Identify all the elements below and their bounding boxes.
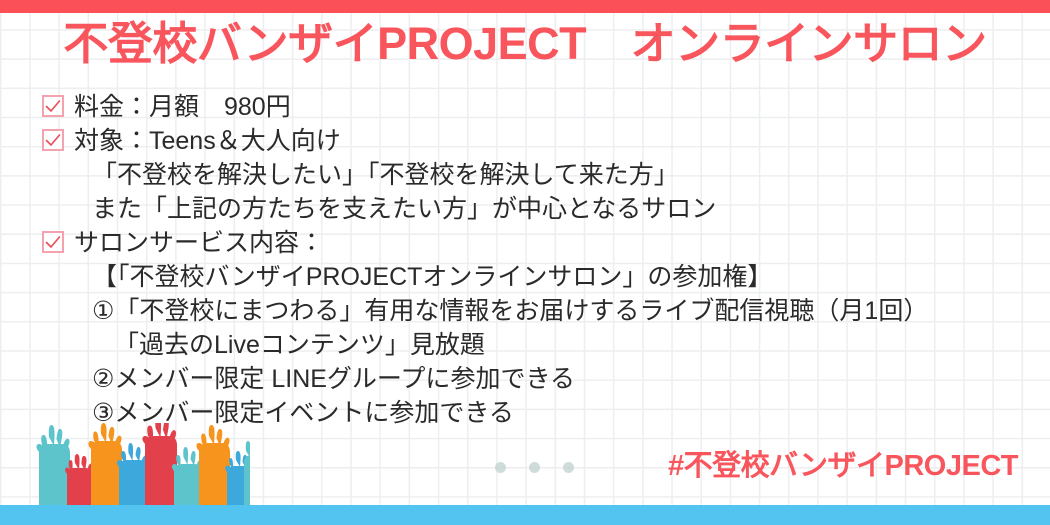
list-item: 料金：月額 980円	[42, 90, 1022, 124]
dot-icon	[529, 462, 540, 473]
list-item: サロンサービス内容：	[42, 226, 1022, 260]
checkbox-icon[interactable]	[42, 95, 64, 117]
decorative-dots	[495, 462, 574, 473]
list-subitem-label: ①「不登校にまつわる」有用な情報をお届けするライブ配信視聴（月1回）	[74, 294, 928, 328]
list-subitem: ①「不登校にまつわる」有用な情報をお届けするライブ配信視聴（月1回）	[42, 294, 1022, 328]
list-item-label: 料金：月額 980円	[74, 90, 291, 124]
dot-icon	[495, 462, 506, 473]
checkbox-icon[interactable]	[42, 231, 64, 253]
list-subitem-label: 「不登校を解決したい」「不登校を解決して来た方」	[74, 158, 679, 192]
bottom-accent-bar	[0, 505, 1050, 525]
list-subitem: 「不登校を解決したい」「不登校を解決して来た方」	[42, 158, 1022, 192]
feature-list: 料金：月額 980円 対象：Teens＆大人向け 「不登校を解決したい」「不登校…	[42, 90, 1022, 430]
dot-icon	[563, 462, 574, 473]
list-subitem-label: 「過去のLiveコンテンツ」見放題	[74, 328, 485, 362]
list-subitem-label: 【「不登校バンザイPROJECTオンラインサロン」の参加権】	[74, 260, 772, 294]
hashtag-label: #不登校バンザイPROJECT	[668, 442, 1018, 484]
list-item-label: 対象：Teens＆大人向け	[74, 124, 341, 158]
list-subitem: ②メンバー限定 LINEグループに参加できる	[42, 362, 1022, 396]
checkbox-icon[interactable]	[42, 129, 64, 151]
poster-canvas: 不登校バンザイPROJECT オンラインサロン 料金：月額 980円 対象：Te…	[0, 0, 1050, 525]
list-item-label: サロンサービス内容：	[74, 226, 324, 260]
list-subitem-label: また「上記の方たちを支えたい方」が中心となるサロン	[74, 192, 716, 226]
top-accent-bar	[0, 0, 1050, 13]
list-subitem: 「過去のLiveコンテンツ」見放題	[42, 328, 1022, 362]
list-subitem: また「上記の方たちを支えたい方」が中心となるサロン	[42, 192, 1022, 226]
page-title: 不登校バンザイPROJECT オンラインサロン	[0, 18, 1050, 70]
list-subitem-label: ②メンバー限定 LINEグループに参加できる	[74, 362, 575, 396]
list-item: 対象：Teens＆大人向け	[42, 124, 1022, 158]
raised-hands-icon	[30, 423, 250, 505]
list-subitem: 【「不登校バンザイPROJECTオンラインサロン」の参加権】	[42, 260, 1022, 294]
